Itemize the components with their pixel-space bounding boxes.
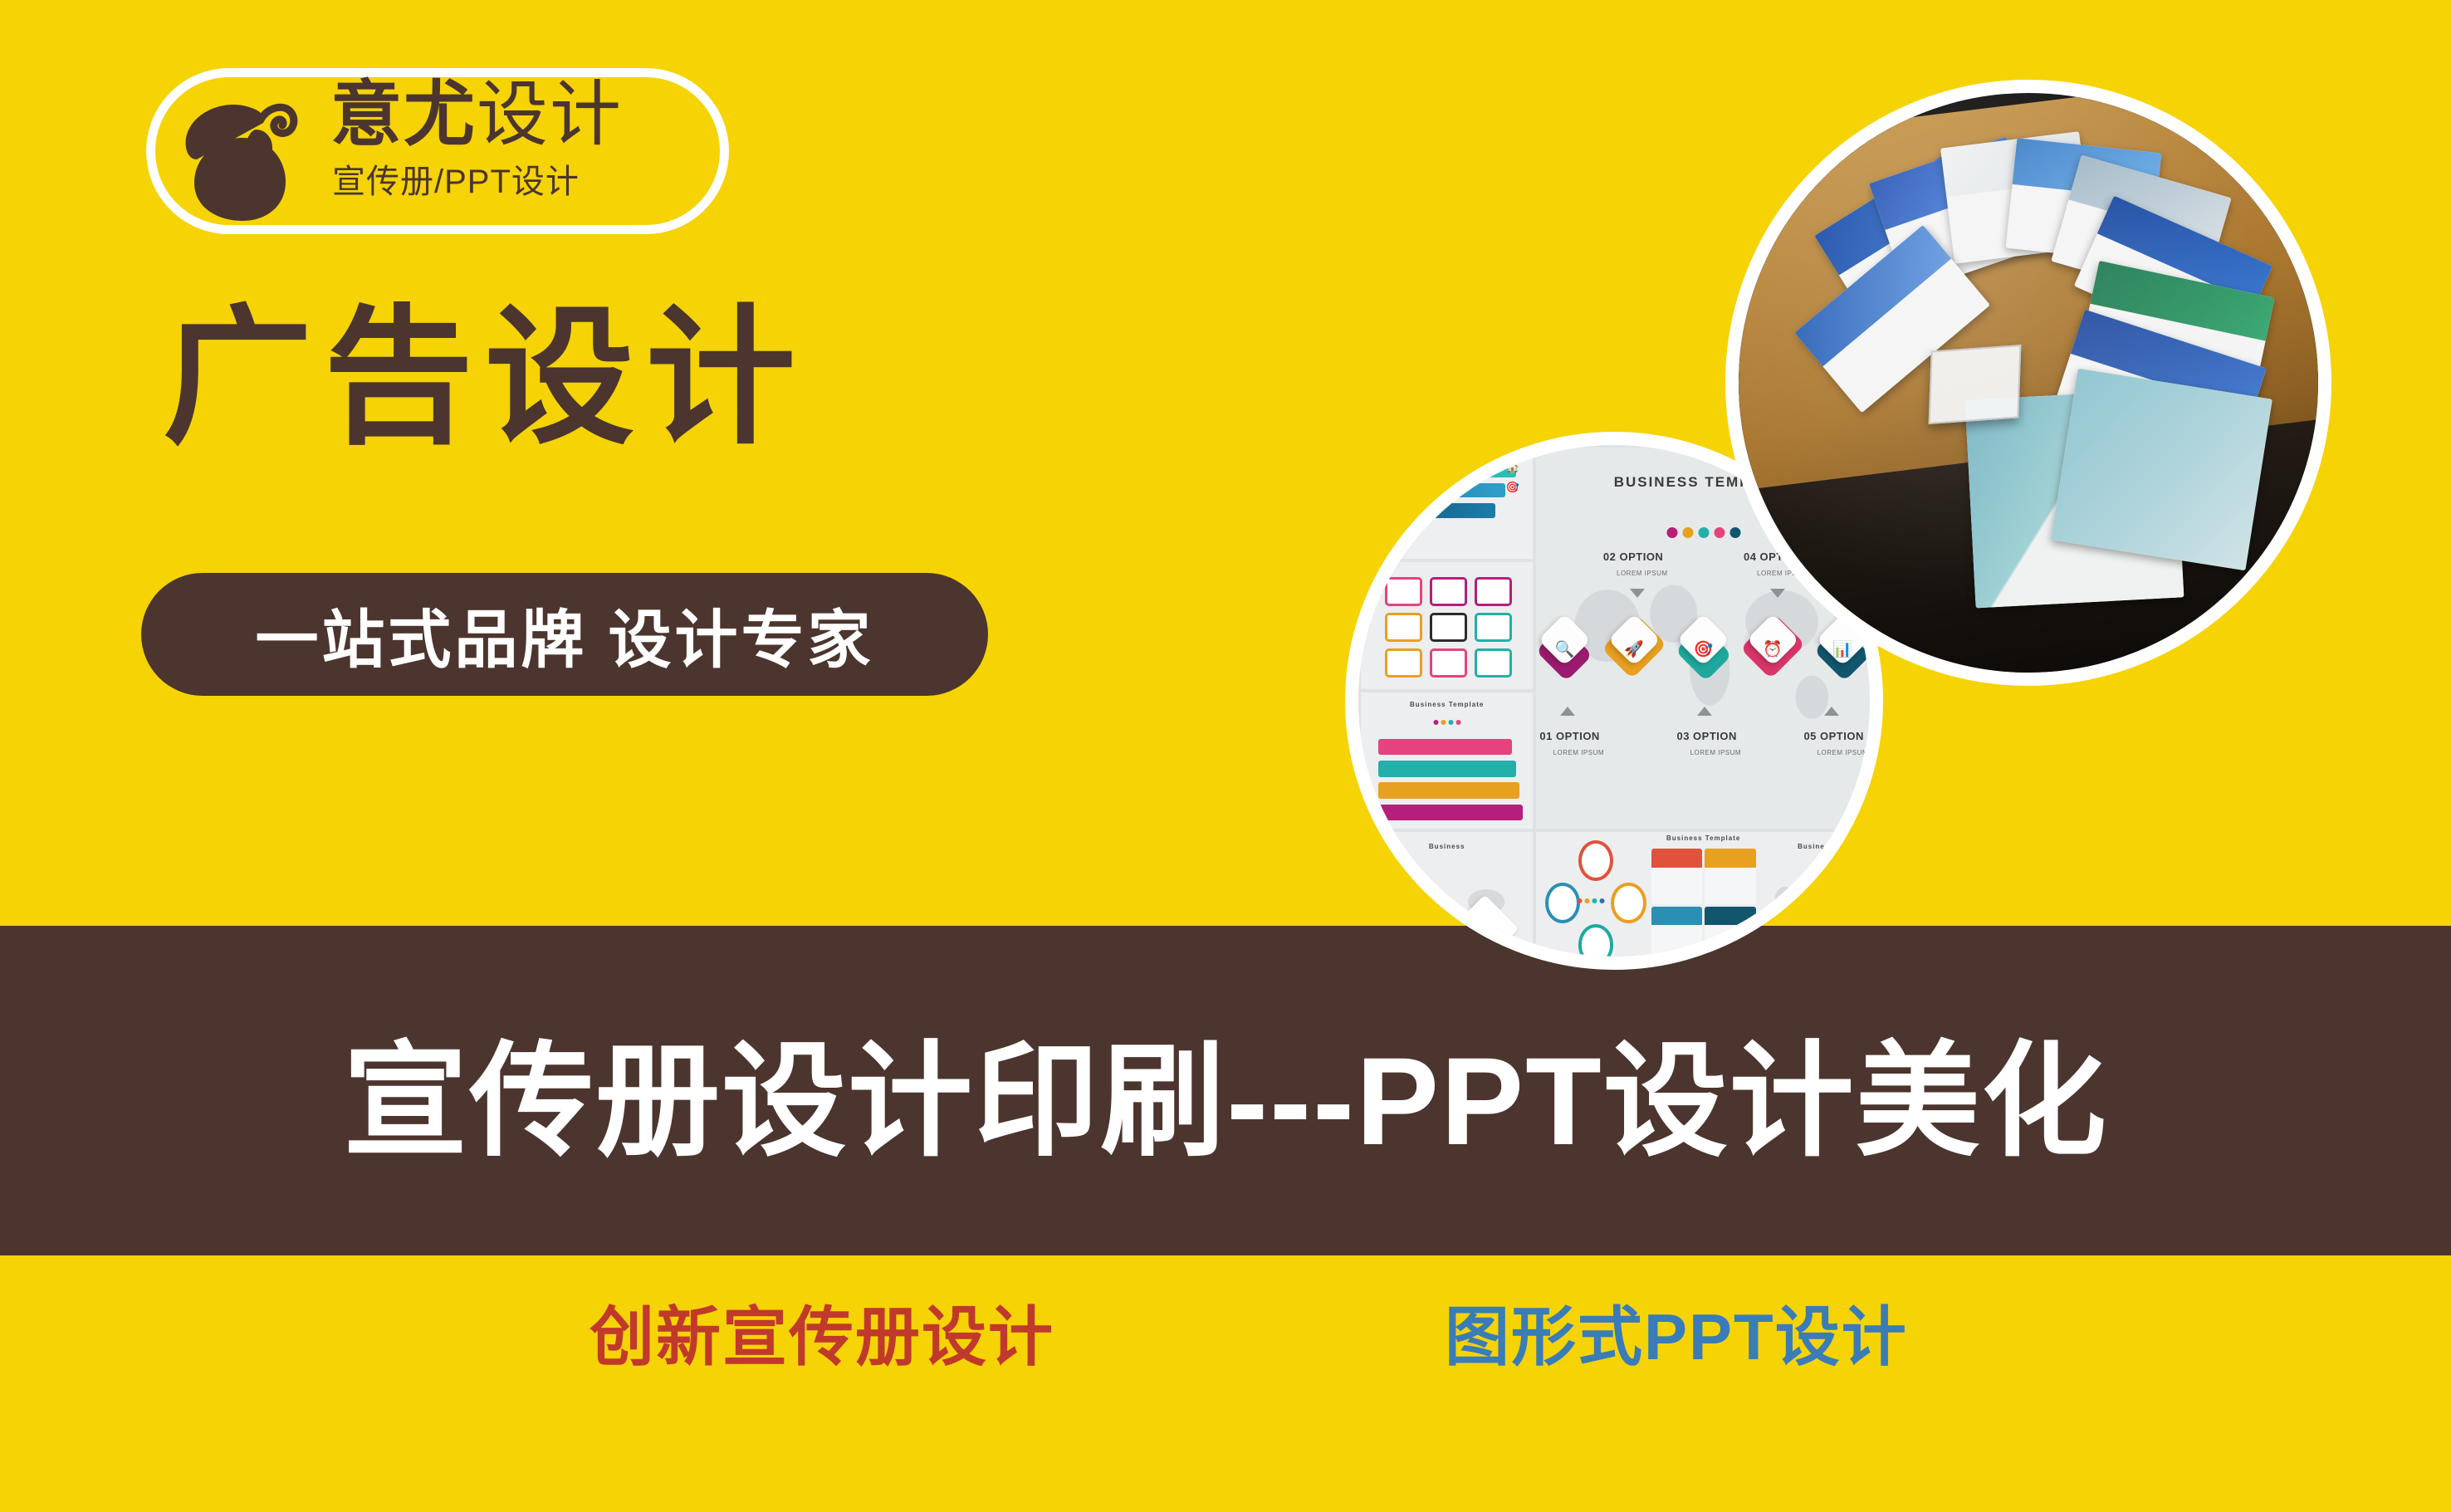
ppt-hero-dots <box>1666 527 1740 538</box>
advertising-banner: 意尤设计 宣传册/PPT设计 广告设计 一站式品牌 设计专家 宣传册设计印刷--… <box>0 0 2451 1512</box>
ppt-option-sub-02: LOREM IPSUM <box>1617 570 1668 577</box>
thumb-world-map: Business <box>1361 832 1533 957</box>
brochure-photo-inner <box>1739 93 2318 673</box>
pointer-down-02 <box>1630 589 1645 598</box>
ppt-option-sub-03: LOREM IPSUM <box>1690 749 1742 756</box>
acrylic-card-holder <box>1929 345 2022 424</box>
logo-tagline: 宣传册/PPT设计 <box>332 163 580 201</box>
bottom-label-ppt: 图形式PPT设计 <box>1445 1295 1908 1378</box>
pointer-up-01 <box>1560 707 1575 716</box>
tagline-badge: 一站式品牌 设计专家 <box>141 573 988 696</box>
ppt-option-diamond-03: 🎯 <box>1682 628 1725 671</box>
logo-text-block: 意尤设计 宣传册/PPT设计 <box>330 76 721 230</box>
logo-brand-bold: 意尤 <box>330 75 477 154</box>
bottom-label-brochure: 创新宣传册设计 <box>590 1295 1054 1378</box>
step-card-02 <box>1705 849 1756 903</box>
step-card-01 <box>1651 849 1703 903</box>
thumb-bottom-row: Business Template Business <box>1536 832 1870 957</box>
thumb-steps-title: Business Template <box>1666 834 1740 842</box>
step-card-03 <box>1651 907 1703 957</box>
tagline-badge-label: 一站式品牌 设计专家 <box>141 573 988 696</box>
thumb-mapbadge-title: Business <box>1798 843 1834 850</box>
thumb-map-badge: Business <box>1761 832 1870 957</box>
service-banner-bar: 宣传册设计印刷---PPT设计美化 <box>0 926 2451 1255</box>
thumb-pyramid-title: Business Template <box>1410 701 1484 708</box>
ppt-option-sub-05: LOREM IPSUM <box>1817 749 1869 756</box>
cycle-center-dots <box>1578 898 1605 903</box>
bottom-label-row: 创新宣传册设计 图形式PPT设计 <box>0 1279 2451 1395</box>
ppt-option-label-02: 02 OPTION <box>1603 550 1663 563</box>
ppt-option-label-01: 01 OPTION <box>1539 730 1599 742</box>
ppt-option-label-03: 03 OPTION <box>1676 730 1736 742</box>
thumb-four-step-cards: Business Template <box>1649 832 1759 957</box>
pointer-up-05 <box>1824 707 1839 716</box>
ppt-option-diamond-01: 🔍 <box>1543 628 1586 671</box>
ppt-option-sub-01: LOREM IPSUM <box>1553 749 1605 756</box>
ppt-option-diamond-02: 🚀 <box>1612 628 1656 671</box>
logo-brand-thin: 设计 <box>477 75 623 154</box>
thumb-pyramid-dots <box>1433 720 1460 725</box>
thumb-pyramid-infographic: Business Template <box>1361 692 1533 829</box>
brochure-item <box>2051 369 2272 571</box>
brochure-photo-circle <box>1725 80 2331 686</box>
step-card-04 <box>1705 907 1756 957</box>
pointer-up-03 <box>1697 707 1712 716</box>
thumb-worldmap-title: Business <box>1429 843 1465 850</box>
ppt-option-label-05: 05 OPTION <box>1803 730 1863 742</box>
thumb-circle-cycle <box>1536 832 1646 957</box>
thumb-map-option: 🏠 🎯 <box>1361 448 1533 559</box>
service-banner-label: 宣传册设计印刷---PPT设计美化 <box>0 926 2451 1255</box>
mango-leaf-logo-icon <box>169 83 311 224</box>
logo-brand-name: 意尤设计 <box>330 76 623 153</box>
page-title: 广告设计 <box>163 297 807 460</box>
thumb-cross-infographic <box>1361 562 1533 689</box>
